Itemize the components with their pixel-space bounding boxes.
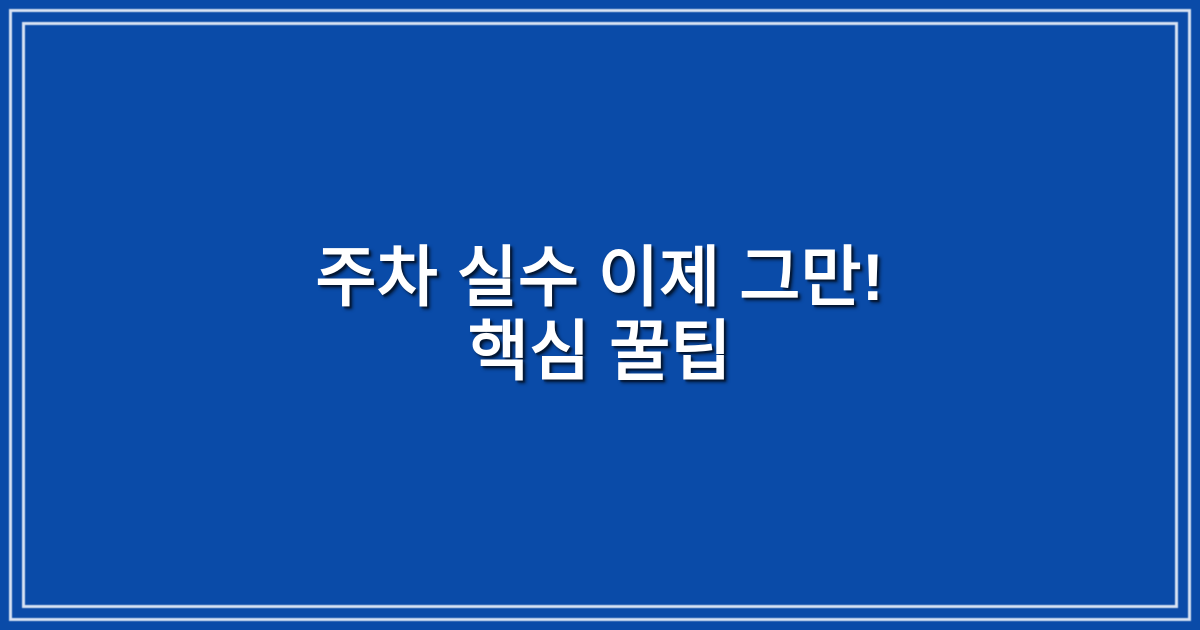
headline-line-2: 핵심 꿀팁 bbox=[316, 315, 885, 389]
banner-card: 주차 실수 이제 그만! 핵심 꿀팁 bbox=[0, 0, 1200, 630]
headline-container: 주차 실수 이제 그만! 핵심 꿀팁 bbox=[0, 0, 1200, 630]
headline-line-1: 주차 실수 이제 그만! bbox=[316, 241, 885, 315]
banner-headline: 주차 실수 이제 그만! 핵심 꿀팁 bbox=[316, 241, 885, 389]
